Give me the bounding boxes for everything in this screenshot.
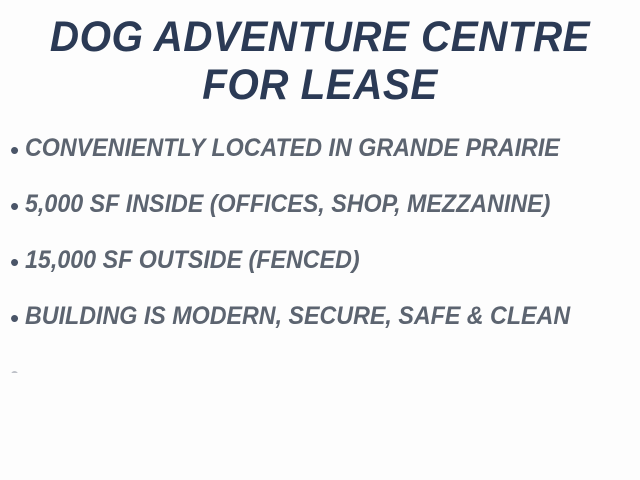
feature-list: • CONVENIENTLY LOCATED IN GRANDE PRAIRIE… <box>0 135 640 373</box>
bullet-dot-icon: • <box>10 361 19 373</box>
list-item: • BUILDING IS MODERN, SECURE, SAFE & CLE… <box>10 303 634 330</box>
page-title: DOG ADVENTURE CENTRE FOR LEASE <box>0 0 640 109</box>
bullet-dot-icon: • <box>10 305 19 331</box>
bullet-dot-icon: • <box>10 249 19 275</box>
list-item-label: BUILDING IS MODERN, SECURE, SAFE & CLEAN <box>25 303 570 330</box>
list-item: • 15,000 SF OUTSIDE (FENCED) <box>10 247 634 274</box>
list-item-label: 15,000 SF OUTSIDE (FENCED) <box>25 247 360 274</box>
list-item-label: CONVENIENTLY LOCATED IN GRANDE PRAIRIE <box>25 135 560 162</box>
list-item: • CONVENIENTLY LOCATED IN GRANDE PRAIRIE <box>10 135 634 162</box>
list-item-partial: • <box>10 359 634 373</box>
poster-canvas: DOG ADVENTURE CENTRE FOR LEASE • CONVENI… <box>0 0 640 480</box>
bullet-dot-icon: • <box>10 193 19 219</box>
list-item: • 5,000 SF INSIDE (OFFICES, SHOP, MEZZAN… <box>10 191 634 218</box>
headline-line-1: DOG ADVENTURE CENTRE <box>19 14 621 60</box>
bullet-dot-icon: • <box>10 137 19 163</box>
headline-line-2: FOR LEASE <box>19 62 621 108</box>
list-item-label: 5,000 SF INSIDE (OFFICES, SHOP, MEZZANIN… <box>25 191 550 218</box>
